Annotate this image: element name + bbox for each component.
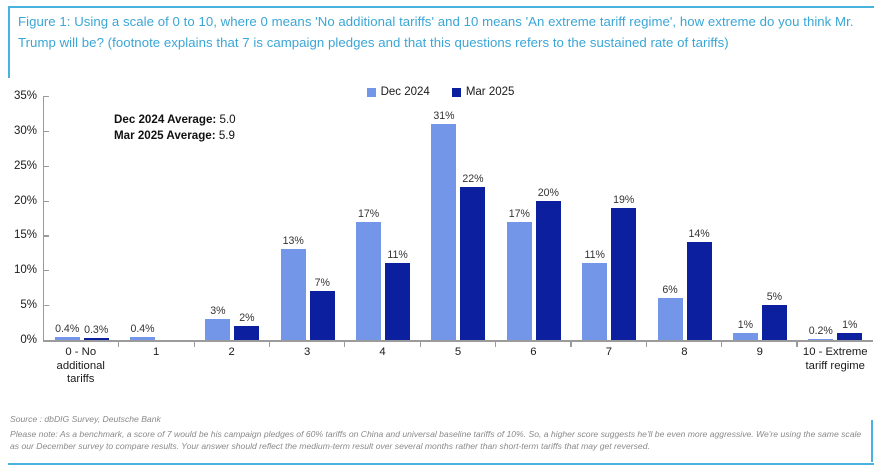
- y-axis-tick: 5%: [20, 299, 44, 311]
- x-axis-label: 10 - Extreme tariff regime: [798, 346, 873, 387]
- bar-mar-2025[interactable]: 5%: [762, 305, 787, 340]
- bar-value-label: 0.3%: [84, 324, 108, 336]
- bar-dec-2024[interactable]: 0.4%: [55, 337, 80, 340]
- bar-group: 6%14%: [647, 96, 722, 340]
- bar-dec-2024[interactable]: 13%: [281, 249, 306, 340]
- y-axis-tick: 15%: [14, 229, 44, 241]
- bar-value-label: 3%: [210, 305, 225, 317]
- bar-value-label: 0.4%: [130, 323, 154, 335]
- bar-value-label: 5%: [767, 291, 782, 303]
- y-axis-tick: 25%: [14, 160, 44, 172]
- bar-mar-2025[interactable]: 1%: [837, 333, 862, 340]
- bar-group: 11%19%: [572, 96, 647, 340]
- bar-value-label: 11%: [387, 249, 407, 261]
- bar-dec-2024[interactable]: 0.2%: [808, 339, 833, 340]
- bar-group: 3%2%: [195, 96, 270, 340]
- bar-dec-2024[interactable]: 0.4%: [130, 337, 155, 340]
- bar-value-label: 17%: [509, 208, 530, 220]
- footnote-text: Please note: As a benchmark, a score of …: [10, 428, 872, 453]
- bar-group: 31%22%: [421, 96, 496, 340]
- x-axis-label: 5: [420, 346, 495, 387]
- bar-value-label: 7%: [315, 277, 330, 289]
- bar-dec-2024[interactable]: 17%: [507, 222, 532, 341]
- x-axis-label: 9: [722, 346, 797, 387]
- bar-value-label: 1%: [738, 319, 753, 331]
- x-axis-labels: 0 - No additional tariffs12345678910 - E…: [43, 346, 873, 387]
- bar-mar-2025[interactable]: 20%: [536, 201, 561, 340]
- bar-mar-2025[interactable]: 11%: [385, 263, 410, 340]
- footer-right-rule: [871, 420, 873, 462]
- x-axis-label: 3: [269, 346, 344, 387]
- bar-mar-2025[interactable]: 14%: [687, 242, 712, 340]
- x-axis-label: 2: [194, 346, 269, 387]
- figure-title: Figure 1: Using a scale of 0 to 10, wher…: [18, 12, 868, 53]
- x-axis-label: 6: [496, 346, 571, 387]
- x-axis-label: 4: [345, 346, 420, 387]
- bar-dec-2024[interactable]: 11%: [582, 263, 607, 340]
- bar-dec-2024[interactable]: 17%: [356, 222, 381, 341]
- y-axis-tick: 30%: [14, 125, 44, 137]
- bar-value-label: 1%: [842, 319, 857, 331]
- bar-mar-2025[interactable]: 2%: [234, 326, 259, 340]
- bar-dec-2024[interactable]: 6%: [658, 298, 683, 340]
- x-axis-label: 1: [118, 346, 193, 387]
- chart-container: Dec 2024 Mar 2025 Dec 2024 Average: 5.0 …: [0, 86, 881, 398]
- bar-value-label: 31%: [433, 110, 454, 122]
- bar-value-label: 0.4%: [55, 323, 79, 335]
- plot-area: Dec 2024 Average: 5.0 Mar 2025 Average: …: [43, 96, 873, 342]
- bar-dec-2024[interactable]: 3%: [205, 319, 230, 340]
- bar-value-label: 13%: [283, 235, 304, 247]
- bar-value-label: 17%: [358, 208, 379, 220]
- bar-value-label: 19%: [613, 194, 634, 206]
- bar-mar-2025[interactable]: 7%: [310, 291, 335, 340]
- bar-groups: 0.4%0.3%0.4%3%2%13%7%17%11%31%22%17%20%1…: [44, 96, 873, 340]
- title-top-rule: [8, 6, 874, 8]
- y-axis-tick: 0%: [20, 334, 44, 346]
- bar-group: 13%7%: [270, 96, 345, 340]
- bar-value-label: 11%: [584, 249, 604, 261]
- x-axis-label: 0 - No additional tariffs: [43, 346, 118, 387]
- x-axis-label: 8: [647, 346, 722, 387]
- bar-mar-2025[interactable]: 0.3%: [84, 338, 109, 340]
- y-axis-tick: 10%: [14, 264, 44, 276]
- bar-group: 17%20%: [496, 96, 571, 340]
- bar-value-label: 6%: [662, 284, 677, 296]
- title-left-rule: [8, 8, 10, 78]
- bar-mar-2025[interactable]: 19%: [611, 208, 636, 340]
- y-axis-tick: 20%: [14, 195, 44, 207]
- bar-group: 0.4%: [119, 96, 194, 340]
- bar-dec-2024[interactable]: 1%: [733, 333, 758, 340]
- y-axis-tick: 35%: [14, 90, 44, 102]
- source-text: Source : dbDIG Survey, Deutsche Bank: [10, 414, 161, 424]
- bar-group: 0.4%0.3%: [44, 96, 119, 340]
- bar-value-label: 0.2%: [809, 325, 833, 337]
- bar-value-label: 20%: [538, 187, 559, 199]
- bar-group: 0.2%1%: [798, 96, 873, 340]
- bar-group: 1%5%: [722, 96, 797, 340]
- footer-bottom-rule: [8, 463, 874, 466]
- bar-value-label: 2%: [239, 312, 254, 324]
- figure-page: Figure 1: Using a scale of 0 to 10, wher…: [0, 0, 881, 475]
- bar-value-label: 14%: [688, 228, 709, 240]
- bar-mar-2025[interactable]: 22%: [460, 187, 485, 340]
- bar-value-label: 22%: [462, 173, 483, 185]
- bar-group: 17%11%: [345, 96, 420, 340]
- x-axis-label: 7: [571, 346, 646, 387]
- bar-dec-2024[interactable]: 31%: [431, 124, 456, 340]
